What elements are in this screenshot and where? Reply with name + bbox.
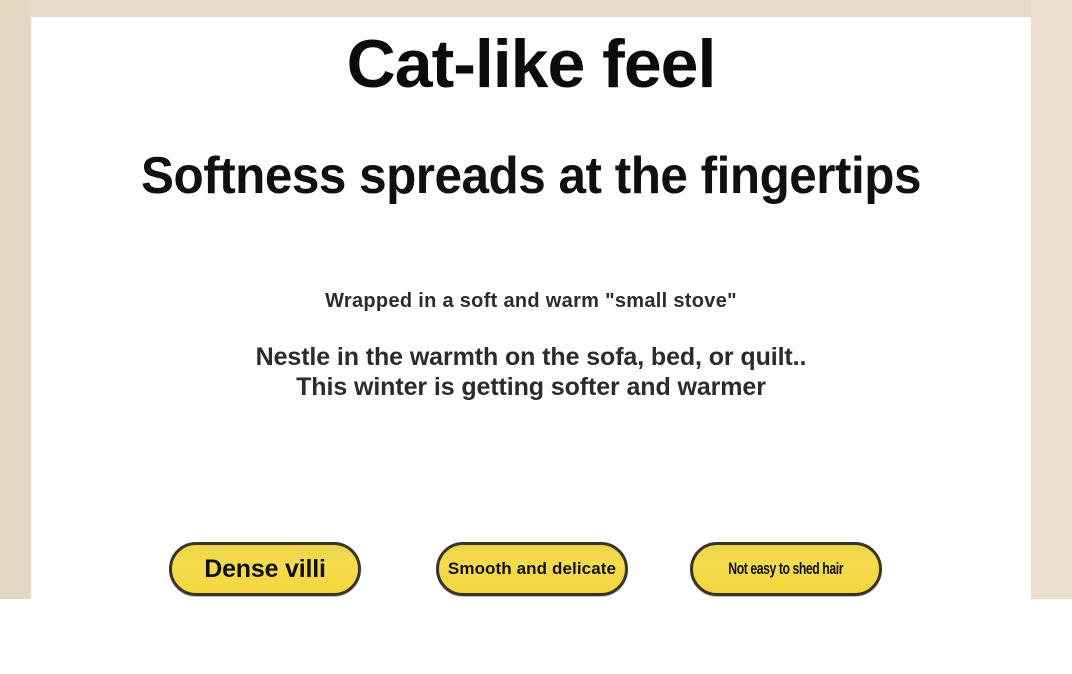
frame-band-left [0, 0, 31, 599]
frame-band-top [0, 0, 1072, 17]
feature-badge-row: Dense villi Smooth and delicate Not easy… [31, 525, 1031, 605]
feature-badge-label: Smooth and delicate [448, 559, 616, 579]
feature-badge-label: Not easy to shed hair [729, 559, 844, 579]
poster-subtitle: Softness spreads at the fingertips [56, 145, 1006, 207]
feature-badge-label: Dense villi [204, 555, 325, 584]
body-line-2: This winter is getting softer and warmer [31, 372, 1031, 402]
feature-badge-not-easy-to-shed-hair[interactable]: Not easy to shed hair [690, 542, 882, 596]
feature-badge-smooth-and-delicate[interactable]: Smooth and delicate [436, 542, 628, 596]
frame-band-right [1031, 0, 1072, 599]
poster-body-block: Nestle in the warmth on the sofa, bed, o… [31, 342, 1031, 402]
poster-title: Cat-like feel [31, 23, 1031, 105]
feature-badge-dense-villi[interactable]: Dense villi [169, 542, 361, 596]
poster-canvas: Cat-like feel Softness spreads at the fi… [0, 0, 1072, 674]
content-panel: Cat-like feel Softness spreads at the fi… [31, 17, 1031, 674]
body-line-1: Nestle in the warmth on the sofa, bed, o… [31, 342, 1031, 372]
poster-lead-text: Wrapped in a soft and warm "small stove" [31, 287, 1031, 315]
